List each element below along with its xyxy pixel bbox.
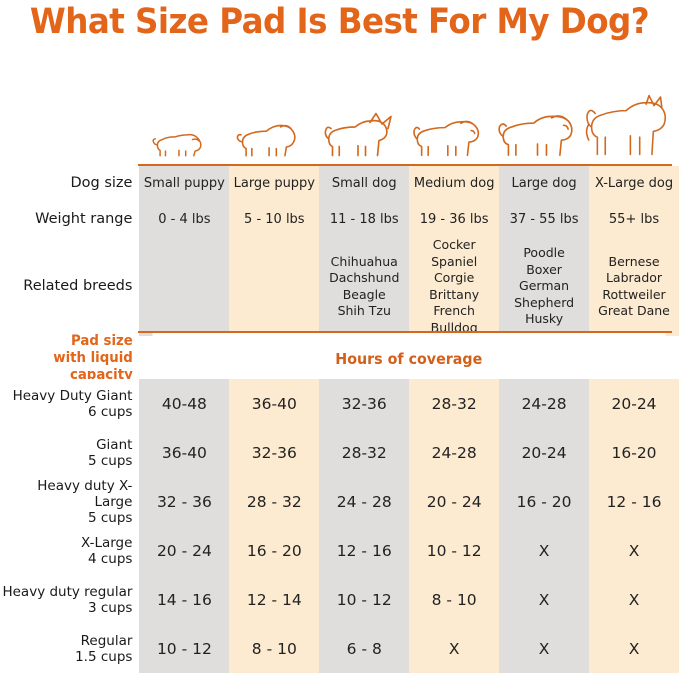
size-chart-page: What Size Pad Is Best For My Dog? Dog si… xyxy=(0,0,679,679)
table-row-weight-range: Weight range 0 - 4 lbs 5 - 10 lbs 11 - 1… xyxy=(0,201,679,237)
table-row-related-breeds: Related breeds ChihuahuaDachshundBeagleS… xyxy=(0,237,679,336)
cell-weight-4: 37 - 55 lbs xyxy=(499,201,589,237)
coverage-cell: 14 - 16 xyxy=(139,575,229,624)
table-row: Heavy Duty Giant6 cups40-4836-4032-3628-… xyxy=(0,379,679,428)
cell-breeds-4: PoodleBoxerGermanShepherdHusky xyxy=(499,237,589,336)
coverage-cell: 16-20 xyxy=(589,428,679,477)
coverage-cell: 16 - 20 xyxy=(229,526,319,575)
pad-name: Giant xyxy=(0,437,132,453)
coverage-cell: 8 - 10 xyxy=(409,575,499,624)
table-row: Heavy duty regular3 cups14 - 1612 - 1410… xyxy=(0,575,679,624)
page-title: What Size Pad Is Best For My Dog? xyxy=(24,2,655,42)
coverage-cell: 6 - 8 xyxy=(319,624,409,673)
small-dog-icon xyxy=(316,78,405,166)
cell-dog-size-4: Large dog xyxy=(499,166,589,201)
cell-weight-0: 0 - 4 lbs xyxy=(139,201,229,237)
large-puppy-icon xyxy=(227,78,316,166)
table-row-dog-size: Dog size Small puppy Large puppy Small d… xyxy=(0,166,679,201)
cell-weight-3: 19 - 36 lbs xyxy=(409,201,499,237)
coverage-cell: 20-24 xyxy=(499,428,589,477)
coverage-cell: 12 - 16 xyxy=(589,477,679,526)
hours-of-coverage-label: Hours of coverage xyxy=(153,333,666,384)
pad-row-label: Heavy duty regular3 cups xyxy=(0,575,139,624)
cell-breeds-0 xyxy=(139,237,229,336)
pad-coverage-table: Heavy Duty Giant6 cups40-4836-4032-3628-… xyxy=(0,379,679,673)
coverage-cell: X xyxy=(589,526,679,575)
pad-capacity: 6 cups xyxy=(0,404,132,420)
cell-weight-1: 5 - 10 lbs xyxy=(229,201,319,237)
row-label-related-breeds: Related breeds xyxy=(0,237,139,336)
cell-dog-size-3: Medium dog xyxy=(409,166,499,201)
dog-info-table: Dog size Small puppy Large puppy Small d… xyxy=(0,166,679,336)
pad-capacity: 3 cups xyxy=(0,600,132,616)
coverage-cell: 24-28 xyxy=(409,428,499,477)
pad-capacity: 5 cups xyxy=(0,453,132,469)
dog-silhouette-row xyxy=(0,78,679,166)
table-row: X-Large4 cups20 - 2416 - 2012 - 1610 - 1… xyxy=(0,526,679,575)
coverage-cell: X xyxy=(589,575,679,624)
hours-of-coverage-band: Pad size with liquid capacity Hours of c… xyxy=(0,333,679,384)
large-dog-icon xyxy=(494,78,583,166)
coverage-cell: 36-40 xyxy=(139,428,229,477)
coverage-cell: 28-32 xyxy=(319,428,409,477)
cell-breeds-3: Cocker SpanielCorgieBrittanyFrench Bulld… xyxy=(409,237,499,336)
coverage-cell: X xyxy=(499,526,589,575)
cell-breeds-5: BerneseLabradorRottweilerGreat Dane xyxy=(589,237,679,336)
pad-name: X-Large xyxy=(0,535,132,551)
pad-size-line1: Pad size xyxy=(71,333,133,349)
pad-name: Heavy duty regular xyxy=(0,584,132,600)
cell-weight-5: 55+ lbs xyxy=(589,201,679,237)
cell-dog-size-1: Large puppy xyxy=(229,166,319,201)
pad-capacity: 5 cups xyxy=(0,510,132,526)
coverage-cell: 16 - 20 xyxy=(499,477,589,526)
coverage-cell: 28 - 32 xyxy=(229,477,319,526)
coverage-cell: X xyxy=(499,624,589,673)
pad-capacity: 4 cups xyxy=(0,551,132,567)
cell-dog-size-0: Small puppy xyxy=(139,166,229,201)
coverage-cell: X xyxy=(589,624,679,673)
pad-row-label: Heavy duty X-Large5 cups xyxy=(0,477,139,526)
coverage-cell: 12 - 14 xyxy=(229,575,319,624)
pad-capacity: 1.5 cups xyxy=(0,649,132,665)
pad-name: Regular xyxy=(0,633,132,649)
cell-weight-2: 11 - 18 lbs xyxy=(319,201,409,237)
cell-dog-size-5: X-Large dog xyxy=(589,166,679,201)
coverage-cell: 20-24 xyxy=(589,379,679,428)
row-label-pad-size: Pad size with liquid capacity xyxy=(7,333,139,384)
pad-row-label: Heavy Duty Giant6 cups xyxy=(0,379,139,428)
small-puppy-icon xyxy=(138,78,227,166)
pad-name: Heavy duty X-Large xyxy=(0,478,132,510)
coverage-cell: 32-36 xyxy=(319,379,409,428)
pad-row-label: Regular1.5 cups xyxy=(0,624,139,673)
coverage-cell: 20 - 24 xyxy=(139,526,229,575)
coverage-cell: 10 - 12 xyxy=(409,526,499,575)
coverage-cell: 20 - 24 xyxy=(409,477,499,526)
coverage-cell: 8 - 10 xyxy=(229,624,319,673)
coverage-cell: 10 - 12 xyxy=(139,624,229,673)
table-row: Giant5 cups36-4032-3628-3224-2820-2416-2… xyxy=(0,428,679,477)
coverage-cell: 28-32 xyxy=(409,379,499,428)
table-row: Regular1.5 cups10 - 128 - 106 - 8XXX xyxy=(0,624,679,673)
pad-row-label: X-Large4 cups xyxy=(0,526,139,575)
coverage-cell: 12 - 16 xyxy=(319,526,409,575)
row-label-weight-range: Weight range xyxy=(0,201,139,237)
pad-row-label: Giant5 cups xyxy=(0,428,139,477)
coverage-cell: 24 - 28 xyxy=(319,477,409,526)
x-large-dog-icon xyxy=(583,78,672,166)
coverage-cell: 40-48 xyxy=(139,379,229,428)
table-row-hours-header: Pad size with liquid capacity Hours of c… xyxy=(0,333,679,384)
table-row: Heavy duty X-Large5 cups32 - 3628 - 3224… xyxy=(0,477,679,526)
cell-dog-size-2: Small dog xyxy=(319,166,409,201)
cell-breeds-1 xyxy=(229,237,319,336)
coverage-cell: X xyxy=(409,624,499,673)
pad-name: Heavy Duty Giant xyxy=(0,388,132,404)
cell-breeds-2: ChihuahuaDachshundBeagleShih Tzu xyxy=(319,237,409,336)
coverage-cell: 24-28 xyxy=(499,379,589,428)
row-label-dog-size: Dog size xyxy=(0,166,139,201)
coverage-cell: X xyxy=(499,575,589,624)
coverage-cell: 10 - 12 xyxy=(319,575,409,624)
medium-dog-icon xyxy=(405,78,494,166)
coverage-cell: 32 - 36 xyxy=(139,477,229,526)
coverage-cell: 36-40 xyxy=(229,379,319,428)
coverage-cell: 32-36 xyxy=(229,428,319,477)
